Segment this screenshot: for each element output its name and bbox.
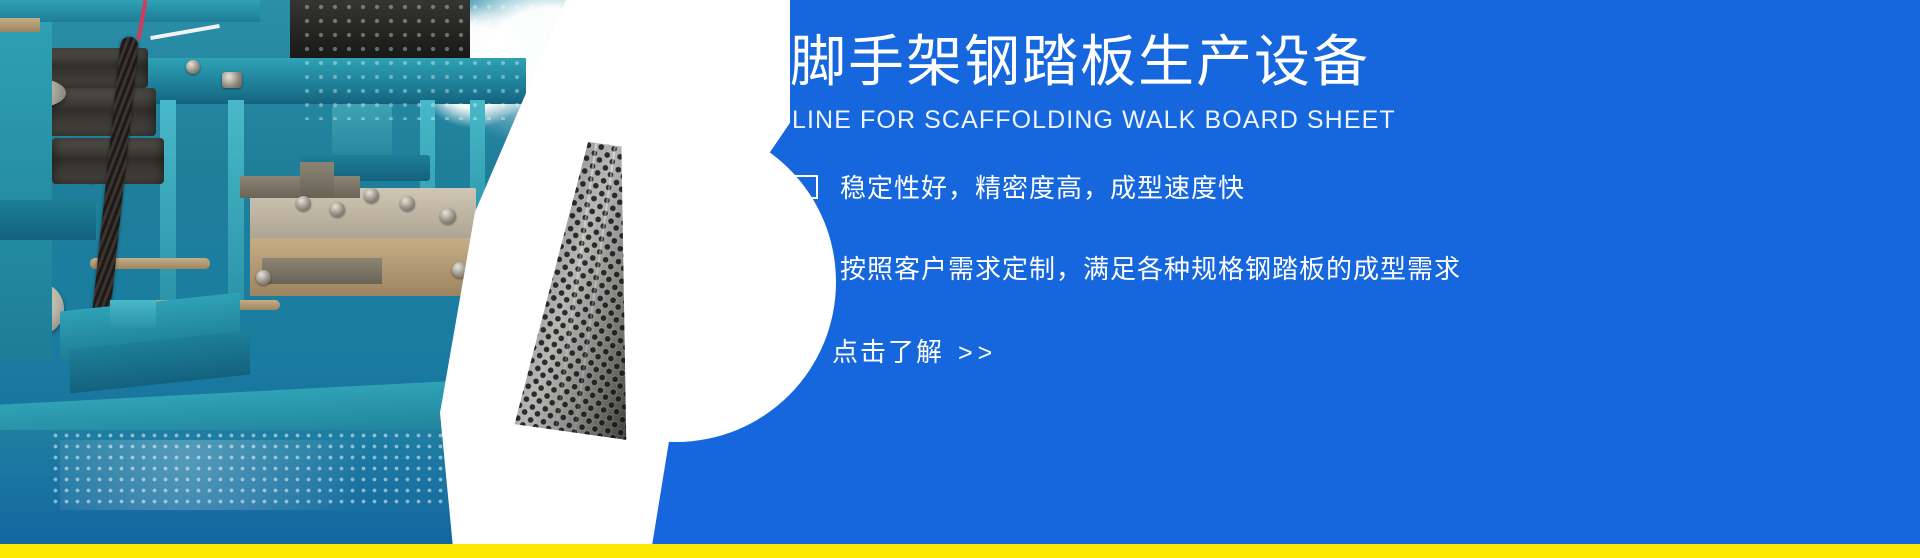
sparkle-dust [300, 0, 560, 120]
feature-item-2: 按照客户需求定制，满足各种规格钢踏板的成型需求 [794, 249, 1914, 286]
banner-title: 脚手架钢踏板生产设备 [790, 30, 1370, 94]
bolt [296, 196, 311, 211]
double-chevron-right-icon: >> [958, 339, 997, 367]
bolt [440, 208, 456, 224]
feature-list: 稳定性好，精密度高，成型速度快 按照客户需求定制，满足各种规格钢踏板的成型需求 [794, 168, 1914, 330]
banner-content: 脚手架钢踏板生产设备 LINE FOR SCAFFOLDING WALK BOA… [790, 0, 1920, 558]
punch-head [300, 162, 334, 196]
bolt [364, 188, 379, 203]
product-banner: 脚手架钢踏板生产设备 LINE FOR SCAFFOLDING WALK BOA… [0, 0, 1920, 558]
banner-subtitle: LINE FOR SCAFFOLDING WALK BOARD SHEET [792, 106, 1396, 135]
feature-item-1-label: 稳定性好，精密度高，成型速度快 [840, 168, 1245, 205]
feature-item-1: 稳定性好，精密度高，成型速度快 [794, 168, 1914, 205]
learn-more-link[interactable]: 点击了解>> [832, 332, 997, 369]
checkbox-square-icon [794, 175, 818, 199]
white-wire [150, 24, 220, 40]
metal-dust [50, 430, 450, 510]
left-frame [0, 0, 52, 360]
bolt [400, 196, 415, 211]
column-left [160, 100, 176, 310]
bolt [330, 202, 345, 217]
base-clamp [110, 300, 156, 328]
bolt [186, 60, 200, 74]
feature-item-2-label: 按照客户需求定制，满足各种规格钢踏板的成型需求 [840, 249, 1461, 286]
learn-more-label: 点击了解 [832, 337, 944, 367]
left-frame-cross [0, 200, 96, 240]
checkbox-square-icon [794, 256, 818, 280]
column-mid [228, 100, 244, 310]
bottom-accent-strip [0, 544, 1920, 558]
brass-fitting [0, 18, 40, 32]
bolt [256, 270, 271, 285]
die-cavity [262, 258, 382, 284]
hex-nut [222, 72, 242, 88]
